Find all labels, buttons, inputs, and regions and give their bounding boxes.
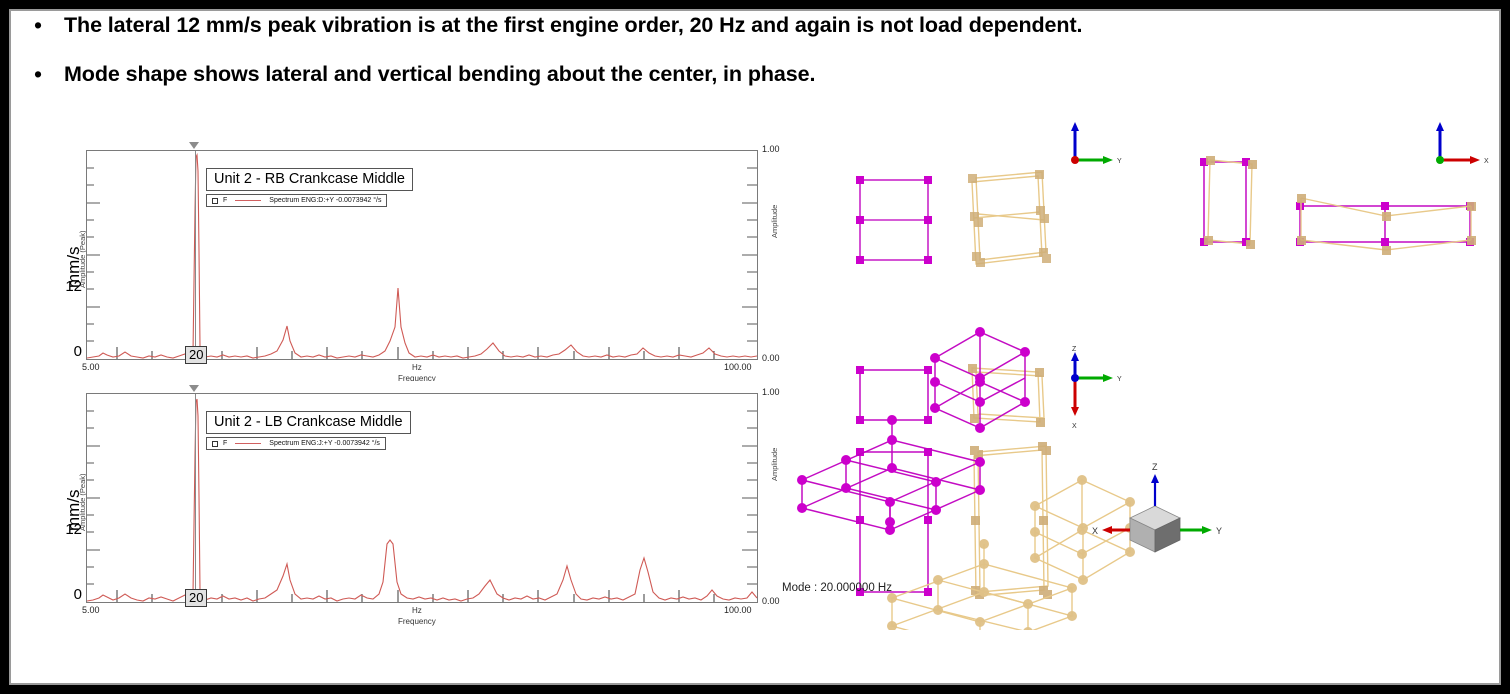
chart-rb-x-unit-label: Hz — [412, 363, 422, 372]
chart-lb-right-max-label: 1.00 — [762, 387, 780, 397]
chart-lb-title: Unit 2 - LB Crankcase Middle — [206, 411, 411, 434]
mode-shape-panel[interactable]: Z Y — [780, 120, 1495, 630]
chart-rb-right-min-label: 0.00 — [762, 353, 780, 363]
triad-zy-icon: Z Y — [1071, 120, 1122, 165]
chart-lb-legend-checkbox[interactable] — [212, 441, 218, 447]
chart-rb-y-min-label: 0 — [46, 343, 82, 360]
bullet-item: • The lateral 12 mm/s peak vibration is … — [22, 12, 1442, 38]
chart-rb-trace — [87, 151, 757, 359]
chart-lb-cursor-flag-icon[interactable] — [189, 385, 199, 392]
mode-view-top-right[interactable]: Z X — [1200, 120, 1489, 255]
chart-rb-legend-swatch-icon — [235, 200, 261, 201]
bullet-list: • The lateral 12 mm/s peak vibration is … — [22, 12, 1442, 110]
bullet-text: Mode shape shows lateral and vertical be… — [64, 61, 815, 87]
chart-lb-legend[interactable]: F Spectrum ENG:J:+Y -0.0073942 °/s — [206, 437, 386, 450]
svg-text:Y: Y — [1117, 158, 1122, 165]
chart-lb-cursor-badge[interactable]: 20 — [185, 589, 207, 607]
svg-text:Z: Z — [1072, 346, 1077, 353]
svg-text:X: X — [1092, 526, 1098, 536]
svg-text:X: X — [1072, 423, 1077, 430]
svg-text:Z: Z — [1072, 120, 1077, 122]
chart-lb-right-axis-title: Amplitude — [770, 448, 779, 481]
chart-rb-x-max-label: 100.00 — [724, 362, 752, 372]
bullet-marker-icon: • — [22, 12, 64, 38]
svg-text:Y: Y — [1117, 376, 1122, 383]
slide-canvas: • The lateral 12 mm/s peak vibration is … — [0, 0, 1510, 694]
chart-rb-title: Unit 2 - RB Crankcase Middle — [206, 168, 413, 191]
chart-lb-cursor-line[interactable] — [195, 394, 196, 604]
svg-text:Z: Z — [1437, 120, 1442, 122]
svg-text:X: X — [1484, 158, 1489, 165]
bullet-text: The lateral 12 mm/s peak vibration is at… — [64, 12, 1082, 38]
chart-rb-right-axis-title: Amplitude — [770, 205, 779, 238]
chart-lb-y-min-label: 0 — [46, 586, 82, 603]
svg-text:Y: Y — [1216, 526, 1222, 536]
chart-rb-cursor-line[interactable] — [195, 151, 196, 361]
chart-lb-x-min-label: 5.00 — [82, 605, 100, 615]
spectrum-chart-rb[interactable]: 12 0 mm/s Amplitude (Peak) — [48, 138, 788, 388]
chart-rb-legend-series-label: Spectrum ENG:D:+Y -0.0073942 °/s — [269, 197, 381, 204]
triad-zyx-icon: Z Y X — [1071, 346, 1122, 430]
chart-lb-x-unit-label: Hz — [412, 606, 422, 615]
chart-rb-right-max-label: 1.00 — [762, 144, 780, 154]
chart-lb-trace — [87, 394, 757, 602]
mode-frequency-label: Mode : 20.000000 Hz — [782, 582, 892, 594]
chart-rb-x-min-label: 5.00 — [82, 362, 100, 372]
bullet-item: • Mode shape shows lateral and vertical … — [22, 61, 1442, 87]
chart-lb-plot-area[interactable] — [86, 393, 758, 603]
spectrum-chart-lb[interactable]: 12 0 mm/s Amplitude (Peak) — [48, 381, 788, 631]
chart-rb-legend[interactable]: F Spectrum ENG:D:+Y -0.0073942 °/s — [206, 194, 387, 207]
triad-zx-icon: Z X — [1436, 120, 1489, 165]
chart-rb-plot-area[interactable] — [86, 150, 758, 360]
chart-lb-right-min-label: 0.00 — [762, 596, 780, 606]
chart-lb-legend-series-label: Spectrum ENG:J:+Y -0.0073942 °/s — [269, 440, 380, 447]
chart-rb-legend-checkbox-label: F — [223, 197, 227, 204]
chart-rb-legend-checkbox[interactable] — [212, 198, 218, 204]
svg-text:Z: Z — [1152, 462, 1158, 472]
chart-rb-cursor-flag-icon[interactable] — [189, 142, 199, 149]
chart-lb-legend-swatch-icon — [235, 443, 261, 444]
chart-rb-cursor-badge[interactable]: 20 — [185, 346, 207, 364]
bullet-marker-icon: • — [22, 61, 64, 87]
chart-lb-x-max-label: 100.00 — [724, 605, 752, 615]
chart-lb-legend-checkbox-label: F — [223, 440, 227, 447]
mode-view-top-left[interactable]: Z Y — [856, 120, 1122, 267]
chart-lb-x-axis-title: Frequency — [398, 617, 436, 626]
